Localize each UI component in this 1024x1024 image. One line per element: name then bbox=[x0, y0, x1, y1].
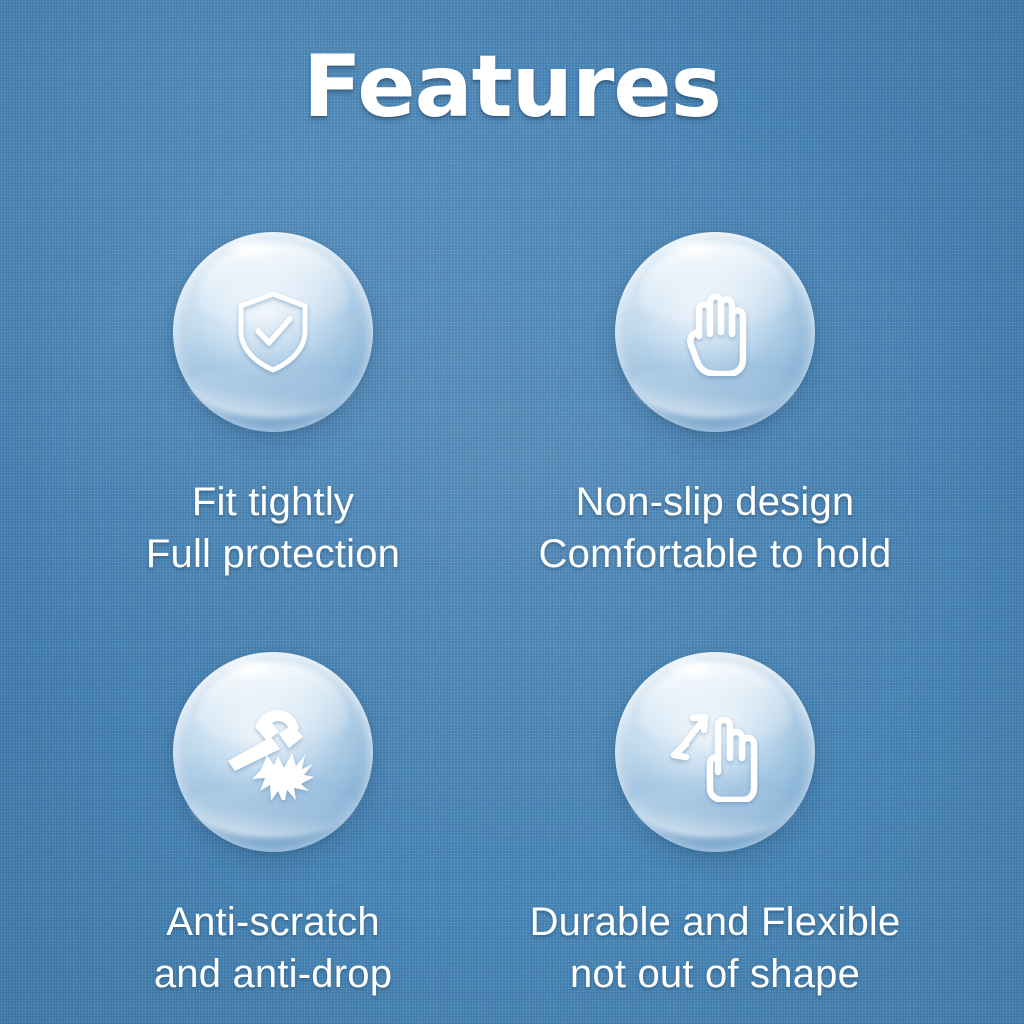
caption-line-1: Durable and Flexible bbox=[480, 896, 950, 948]
glass-orb-3 bbox=[173, 652, 373, 852]
feature-card-1: Fit tightly Full protection bbox=[38, 232, 508, 580]
feature-caption-1: Fit tightly Full protection bbox=[38, 476, 508, 580]
feature-infographic: Features Fit tightly Full protection bbox=[0, 0, 1024, 1024]
caption-line-2: Comfortable to hold bbox=[480, 528, 950, 580]
hammer-impact-icon bbox=[173, 652, 373, 852]
feature-caption-2: Non-slip design Comfortable to hold bbox=[480, 476, 950, 580]
caption-line-2: Full protection bbox=[38, 528, 508, 580]
caption-line-1: Non-slip design bbox=[480, 476, 950, 528]
feature-card-3: Anti-scratch and anti-drop bbox=[38, 652, 508, 1000]
glass-orb-2 bbox=[615, 232, 815, 432]
feature-grid: Fit tightly Full protection bbox=[0, 0, 1024, 1024]
stretch-hand-arrow-icon bbox=[615, 652, 815, 852]
feature-caption-3: Anti-scratch and anti-drop bbox=[38, 896, 508, 1000]
shield-check-icon bbox=[173, 232, 373, 432]
feature-card-4: Durable and Flexible not out of shape bbox=[480, 652, 950, 1000]
glass-orb-4 bbox=[615, 652, 815, 852]
feature-caption-4: Durable and Flexible not out of shape bbox=[480, 896, 950, 1000]
caption-line-2: and anti-drop bbox=[38, 948, 508, 1000]
glass-orb-1 bbox=[173, 232, 373, 432]
caption-line-1: Fit tightly bbox=[38, 476, 508, 528]
caption-line-2: not out of shape bbox=[480, 948, 950, 1000]
caption-line-1: Anti-scratch bbox=[38, 896, 508, 948]
page-title: Features bbox=[0, 44, 1024, 130]
feature-card-2: Non-slip design Comfortable to hold bbox=[480, 232, 950, 580]
open-hand-icon bbox=[615, 232, 815, 432]
